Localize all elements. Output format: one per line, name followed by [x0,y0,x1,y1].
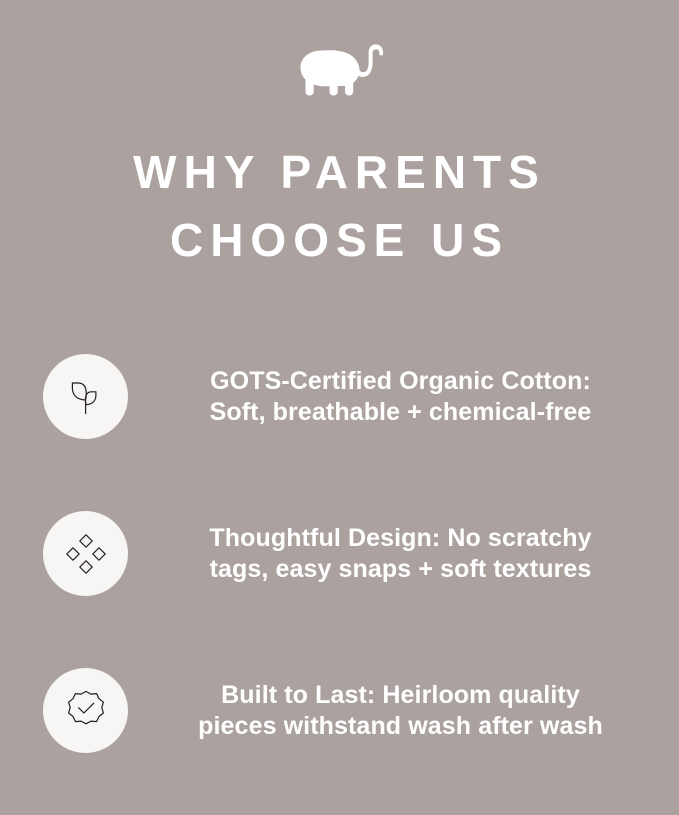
feature-text-line-2: pieces withstand wash after wash [148,711,653,742]
feature-text-line-1: GOTS-Certified Organic Cotton: [148,366,653,397]
page-title-line-2: CHOOSE US [30,206,650,274]
page-title-line-1: WHY PARENTS [30,138,650,206]
feature-icon-badge [43,354,128,439]
badge-check-icon [63,688,109,734]
feature-text: Thoughtful Design: No scratchy tags, eas… [148,523,653,585]
four-diamonds-icon [64,532,108,576]
feature-text-line-1: Built to Last: Heirloom quality [148,680,653,711]
feature-icon-badge [43,668,128,753]
feature-text: GOTS-Certified Organic Cotton: Soft, bre… [148,366,653,428]
sprout-leaf-icon [63,374,109,420]
feature-row-organic-cotton: GOTS-Certified Organic Cotton: Soft, bre… [0,318,679,475]
page-title: WHY PARENTS CHOOSE US [30,138,650,274]
feature-row-thoughtful-design: Thoughtful Design: No scratchy tags, eas… [0,475,679,632]
feature-text-line-1: Thoughtful Design: No scratchy [148,523,653,554]
elephant-logo-icon [295,41,385,101]
feature-text-line-2: tags, easy snaps + soft textures [148,554,653,585]
feature-text: Built to Last: Heirloom quality pieces w… [148,680,653,742]
brand-logo [290,38,390,104]
why-parents-choose-us-panel: WHY PARENTS CHOOSE US GOTS-Certifie [0,0,679,815]
feature-list: GOTS-Certified Organic Cotton: Soft, bre… [0,318,679,789]
feature-icon-badge [43,511,128,596]
feature-text-line-2: Soft, breathable + chemical-free [148,397,653,428]
feature-row-built-to-last: Built to Last: Heirloom quality pieces w… [0,632,679,789]
